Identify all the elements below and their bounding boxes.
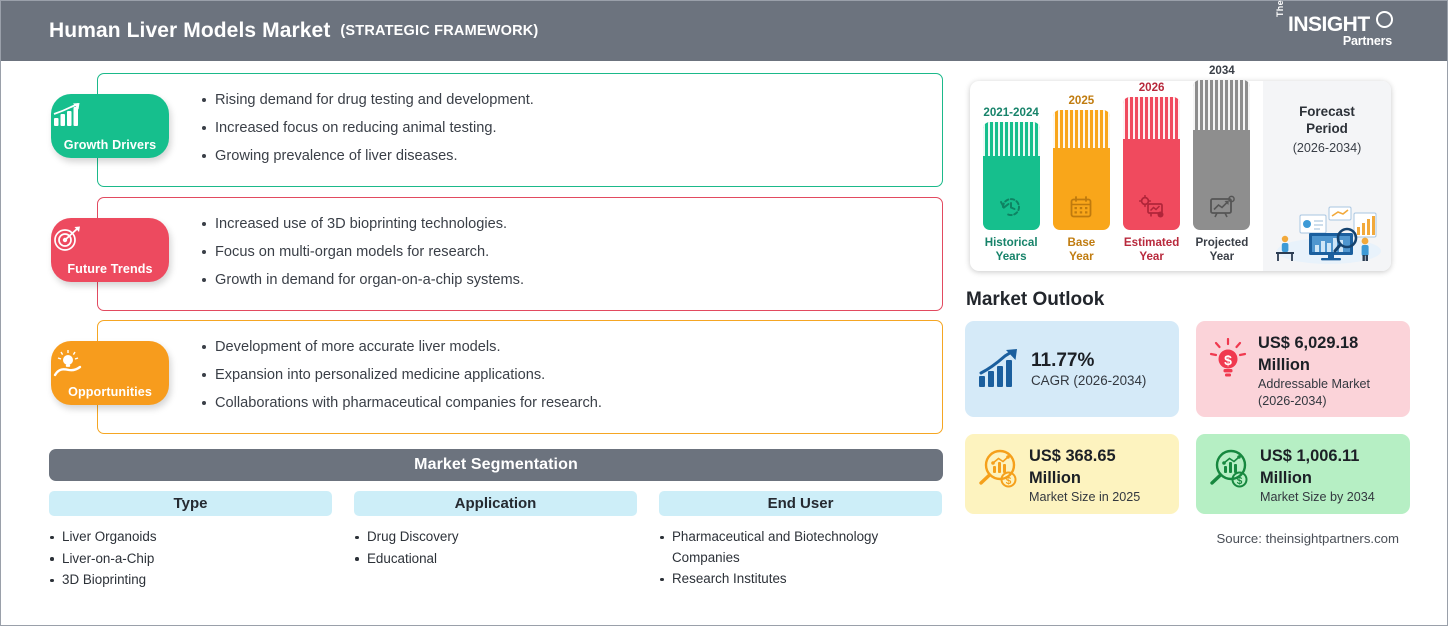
card-value: 11.77% bbox=[1031, 349, 1167, 372]
list-item: Educational bbox=[354, 549, 637, 570]
lightbulb-dollar-icon: $ bbox=[1208, 338, 1248, 382]
timeline-year: 2026 bbox=[1139, 81, 1165, 94]
data-analysis-illustration bbox=[1267, 205, 1387, 265]
source-attribution: Source: theinsightpartners.com bbox=[1216, 531, 1399, 546]
growth-drivers-bullets: Rising demand for drug testing and devel… bbox=[98, 74, 942, 170]
list-item: Research Institutes bbox=[659, 569, 942, 590]
list-item: Liver-on-a-Chip bbox=[49, 549, 332, 570]
timeline-label: Base Year bbox=[1068, 236, 1096, 263]
list-item: Drug Discovery bbox=[354, 527, 637, 548]
card-market-size-2034: $ US$ 1,006.11 Million Market Size by 20… bbox=[1196, 434, 1410, 514]
column-items: Drug Discovery Educational bbox=[354, 527, 637, 569]
market-outlook-title: Market Outlook bbox=[966, 289, 1104, 311]
list-item: Collaborations with pharmaceutical compa… bbox=[202, 389, 942, 417]
forecast-range: (2026-2034) bbox=[1263, 141, 1391, 155]
market-segmentation-title: Market Segmentation bbox=[49, 449, 943, 481]
timeline-bar bbox=[1193, 80, 1250, 230]
card-value: US$ 368.65 bbox=[1029, 445, 1167, 467]
bar-chart-growth-icon bbox=[977, 349, 1021, 389]
card-subtitle: CAGR (2026-2034) bbox=[1031, 372, 1167, 390]
segmentation-column-type: Type Liver Organoids Liver-on-a-Chip 3D … bbox=[49, 491, 332, 592]
insight-partners-logo: The INSIGHT Partners bbox=[1275, 11, 1395, 53]
svg-text:$: $ bbox=[1006, 476, 1012, 487]
timeline-bar bbox=[1053, 110, 1110, 230]
infographic-page: Human Liver Models Market (STRATEGIC FRA… bbox=[0, 0, 1448, 626]
forecast-title-line2: Period bbox=[1263, 120, 1391, 137]
list-item: Rising demand for drug testing and devel… bbox=[202, 86, 942, 114]
page-title: Human Liver Models Market bbox=[49, 19, 330, 43]
logo-the-text: The bbox=[1275, 0, 1285, 17]
badge-growth-drivers: Growth Drivers bbox=[51, 94, 169, 158]
card-value: US$ 1,006.11 bbox=[1260, 445, 1398, 467]
logo-magnifier-icon bbox=[1376, 11, 1393, 28]
timeline-label: Historical Years bbox=[985, 236, 1038, 263]
timeline-label: Projected Year bbox=[1195, 236, 1248, 263]
forecast-period-panel: Forecast Period (2026-2034) bbox=[1263, 81, 1391, 271]
market-timeline: 2021-2024 Historical Ye bbox=[970, 81, 1391, 271]
clock-rewind-icon bbox=[999, 195, 1023, 219]
card-value-unit: Million bbox=[1258, 354, 1398, 376]
list-item: Liver Organoids bbox=[49, 527, 332, 548]
column-header: End User bbox=[659, 491, 942, 516]
segmentation-column-application: Application Drug Discovery Educational bbox=[354, 491, 637, 592]
future-trends-bullets: Increased use of 3D bioprinting technolo… bbox=[98, 198, 942, 294]
list-item: Increased focus on reducing animal testi… bbox=[202, 114, 942, 142]
magnifier-chart-dollar-icon: $ bbox=[1208, 448, 1250, 490]
timeline-year: 2025 bbox=[1068, 94, 1094, 107]
timeline-item-projected: 2034 bbox=[1192, 64, 1252, 263]
badge-label: Future Trends bbox=[67, 262, 152, 276]
logo-partners-text: Partners bbox=[1343, 34, 1392, 48]
badge-opportunities: Opportunities bbox=[51, 341, 169, 405]
panel-opportunities: Development of more accurate liver model… bbox=[97, 320, 943, 434]
calendar-icon bbox=[1069, 195, 1093, 219]
card-subtitle: Addressable Market bbox=[1258, 376, 1398, 393]
opportunities-bullets: Development of more accurate liver model… bbox=[98, 321, 942, 417]
column-header: Application bbox=[354, 491, 637, 516]
list-item: Increased use of 3D bioprinting technolo… bbox=[202, 210, 942, 238]
page-subtitle: (STRATEGIC FRAMEWORK) bbox=[340, 23, 538, 39]
list-item: 3D Bioprinting bbox=[49, 570, 332, 591]
card-subtitle-range: (2026-2034) bbox=[1258, 393, 1398, 410]
timeline-label: Estimated Year bbox=[1124, 236, 1179, 263]
list-item: Pharmaceutical and Biotechnology Compani… bbox=[659, 527, 942, 568]
list-item: Expansion into personalized medicine app… bbox=[202, 361, 942, 389]
svg-text:$: $ bbox=[1224, 352, 1232, 368]
list-item: Focus on multi-organ models for research… bbox=[202, 238, 942, 266]
forecast-title-line1: Forecast bbox=[1263, 103, 1391, 120]
column-items: Pharmaceutical and Biotechnology Compani… bbox=[659, 527, 942, 590]
badge-label: Growth Drivers bbox=[64, 138, 156, 152]
card-subtitle: Market Size by 2034 bbox=[1260, 489, 1398, 506]
target-dart-icon bbox=[51, 226, 169, 252]
timeline-year: 2034 bbox=[1209, 64, 1235, 77]
svg-text:$: $ bbox=[1237, 476, 1243, 487]
lightbulb-in-hand-icon bbox=[51, 349, 169, 377]
card-subtitle: Market Size in 2025 bbox=[1029, 489, 1167, 506]
timeline-item-estimated: 2026 bbox=[1122, 81, 1182, 263]
card-value-unit: Million bbox=[1029, 467, 1167, 489]
timeline-item-historical: 2021-2024 Historical Ye bbox=[981, 106, 1041, 263]
panel-growth-drivers: Rising demand for drug testing and devel… bbox=[97, 73, 943, 187]
segmentation-column-end-user: End User Pharmaceutical and Biotechnolog… bbox=[659, 491, 942, 592]
timeline-item-base: 2025 bbox=[1051, 94, 1111, 263]
card-addressable-market: $ US$ 6,029.18 Million Addressable Marke… bbox=[1196, 321, 1410, 417]
gear-chart-icon bbox=[1139, 195, 1165, 219]
panel-future-trends: Increased use of 3D bioprinting technolo… bbox=[97, 197, 943, 311]
header-bar: Human Liver Models Market (STRATEGIC FRA… bbox=[1, 1, 1447, 61]
list-item: Growth in demand for organ-on-a-chip sys… bbox=[202, 266, 942, 294]
card-value-unit: Million bbox=[1260, 467, 1398, 489]
monitor-trend-icon bbox=[1209, 195, 1235, 219]
segmentation-columns: Type Liver Organoids Liver-on-a-Chip 3D … bbox=[49, 491, 943, 592]
card-cagr: 11.77% CAGR (2026-2034) bbox=[965, 321, 1179, 417]
badge-future-trends: Future Trends bbox=[51, 218, 169, 282]
magnifier-chart-dollar-icon: $ bbox=[977, 448, 1019, 490]
list-item: Development of more accurate liver model… bbox=[202, 333, 942, 361]
timeline-bar bbox=[983, 122, 1040, 230]
outlook-cards: 11.77% CAGR (2026-2034) bbox=[965, 321, 1410, 514]
column-header: Type bbox=[49, 491, 332, 516]
bar-chart-arrow-up-icon bbox=[51, 102, 169, 128]
badge-label: Opportunities bbox=[68, 385, 152, 399]
timeline-bar bbox=[1123, 97, 1180, 230]
timeline-bars: 2021-2024 Historical Ye bbox=[970, 81, 1263, 271]
list-item: Growing prevalence of liver diseases. bbox=[202, 142, 942, 170]
column-items: Liver Organoids Liver-on-a-Chip 3D Biopr… bbox=[49, 527, 332, 591]
card-market-size-2025: $ US$ 368.65 Million Market Size in 2025 bbox=[965, 434, 1179, 514]
card-value: US$ 6,029.18 bbox=[1258, 332, 1398, 354]
timeline-year: 2021-2024 bbox=[983, 106, 1038, 119]
